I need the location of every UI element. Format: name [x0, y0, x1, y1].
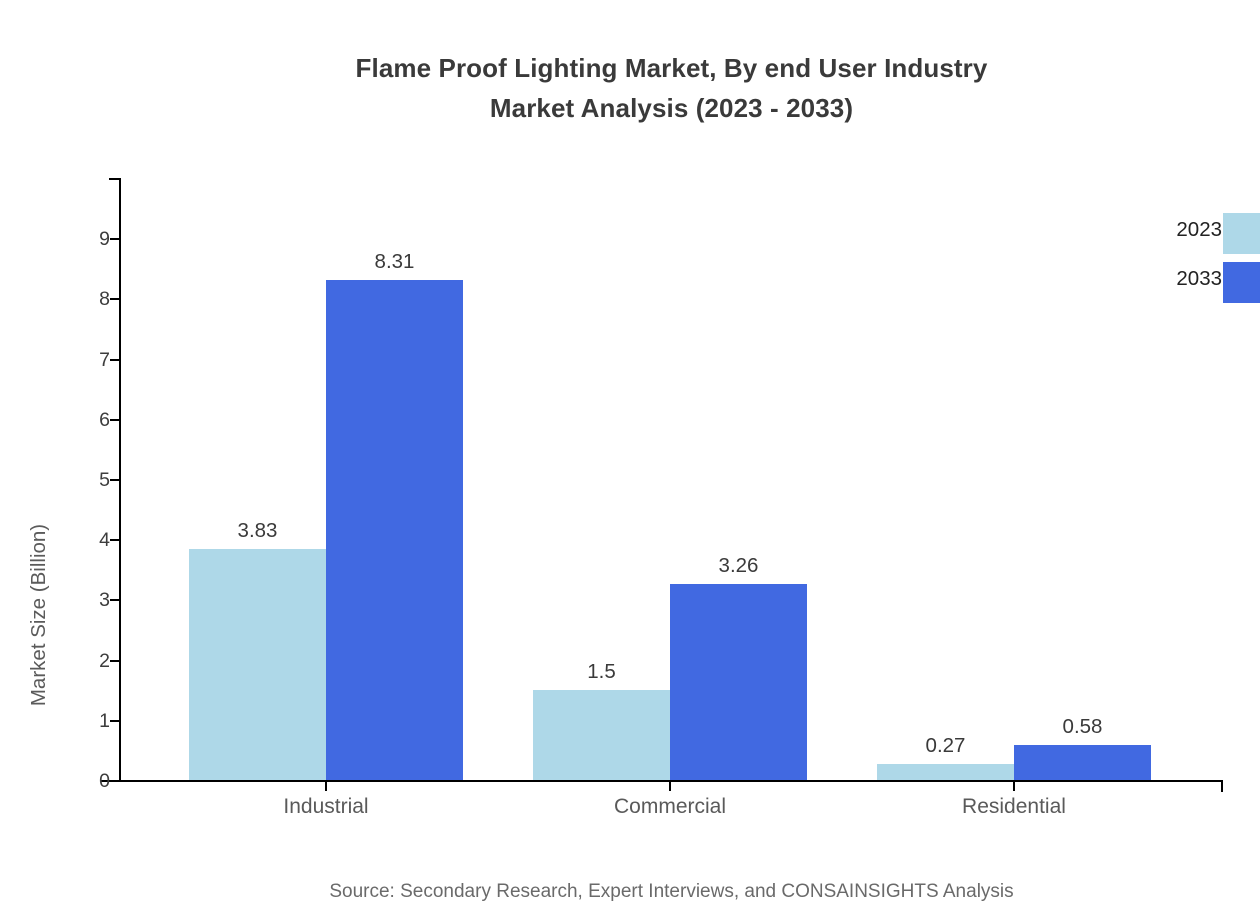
- y-axis-tick-label: 7: [50, 350, 110, 370]
- y-axis-tick-label: 8: [50, 289, 110, 309]
- y-axis-tick-label: 3: [50, 590, 110, 610]
- y-axis-tick-label: 9: [50, 229, 110, 249]
- y-axis-tick: [110, 660, 120, 662]
- source-note: Source: Secondary Research, Expert Inter…: [0, 878, 1260, 906]
- legend-color-swatch: [1223, 213, 1260, 254]
- bar-value-label: 0.58: [1003, 715, 1163, 739]
- y-axis-tick: [110, 419, 120, 421]
- legend-item-label: 2023: [1102, 216, 1222, 244]
- y-axis-tick-label: 1: [50, 711, 110, 731]
- bar-commercial-2023[interactable]: [533, 690, 670, 780]
- bar-residential-2033[interactable]: [1014, 745, 1151, 780]
- chart-title-line-2: Market Analysis (2023 - 2033): [0, 88, 1260, 128]
- legend-color-swatch: [1223, 262, 1260, 303]
- y-axis-tick: [110, 238, 120, 240]
- y-axis-tick: [110, 780, 120, 782]
- x-axis-tick: [325, 781, 327, 791]
- y-axis-tick: [110, 720, 120, 722]
- x-axis-tick: [1013, 781, 1015, 791]
- y-axis-tick: [110, 298, 120, 300]
- bar-industrial-2033[interactable]: [326, 280, 463, 780]
- x-axis-end-cap: [1221, 780, 1223, 792]
- bar-value-label: 3.26: [659, 554, 819, 578]
- chart-legend: 20232033: [1094, 216, 1260, 314]
- y-axis-tick-label: 0: [50, 771, 110, 791]
- y-axis-tick-label: 6: [50, 410, 110, 430]
- y-axis-tick: [110, 539, 120, 541]
- x-axis-tick: [669, 781, 671, 791]
- y-axis-tick: [110, 479, 120, 481]
- legend-item-2033[interactable]: 2033: [1094, 265, 1260, 314]
- x-axis-line: [100, 780, 1223, 782]
- chart-title-line-1: Flame Proof Lighting Market, By end User…: [0, 48, 1260, 88]
- bar-value-label: 1.5: [522, 660, 682, 684]
- chart-title: Flame Proof Lighting Market, By end User…: [0, 48, 1260, 128]
- bar-industrial-2023[interactable]: [189, 549, 326, 780]
- y-axis-tick: [110, 359, 120, 361]
- y-axis-top-cap: [109, 178, 121, 180]
- x-axis-category-label: Commercial: [540, 792, 800, 822]
- y-axis-tick-label: 5: [50, 470, 110, 490]
- y-axis-tick: [110, 599, 120, 601]
- legend-item-label: 2033: [1102, 265, 1222, 293]
- plot-area: 0123456789 IndustrialCommercialResidenti…: [119, 178, 1223, 782]
- bar-residential-2023[interactable]: [877, 764, 1014, 780]
- y-axis-tick-label: 2: [50, 651, 110, 671]
- bar-value-label: 3.83: [178, 519, 338, 543]
- x-axis-category-label: Residential: [884, 792, 1144, 822]
- bar-chart-figure: Flame Proof Lighting Market, By end User…: [0, 0, 1260, 920]
- x-axis-category-label: Industrial: [196, 792, 456, 822]
- bar-commercial-2033[interactable]: [670, 584, 807, 780]
- legend-item-2023[interactable]: 2023: [1094, 216, 1260, 265]
- bar-value-label: 8.31: [315, 250, 475, 274]
- y-axis-tick-label: 4: [50, 530, 110, 550]
- bar-value-label: 0.27: [866, 734, 1026, 758]
